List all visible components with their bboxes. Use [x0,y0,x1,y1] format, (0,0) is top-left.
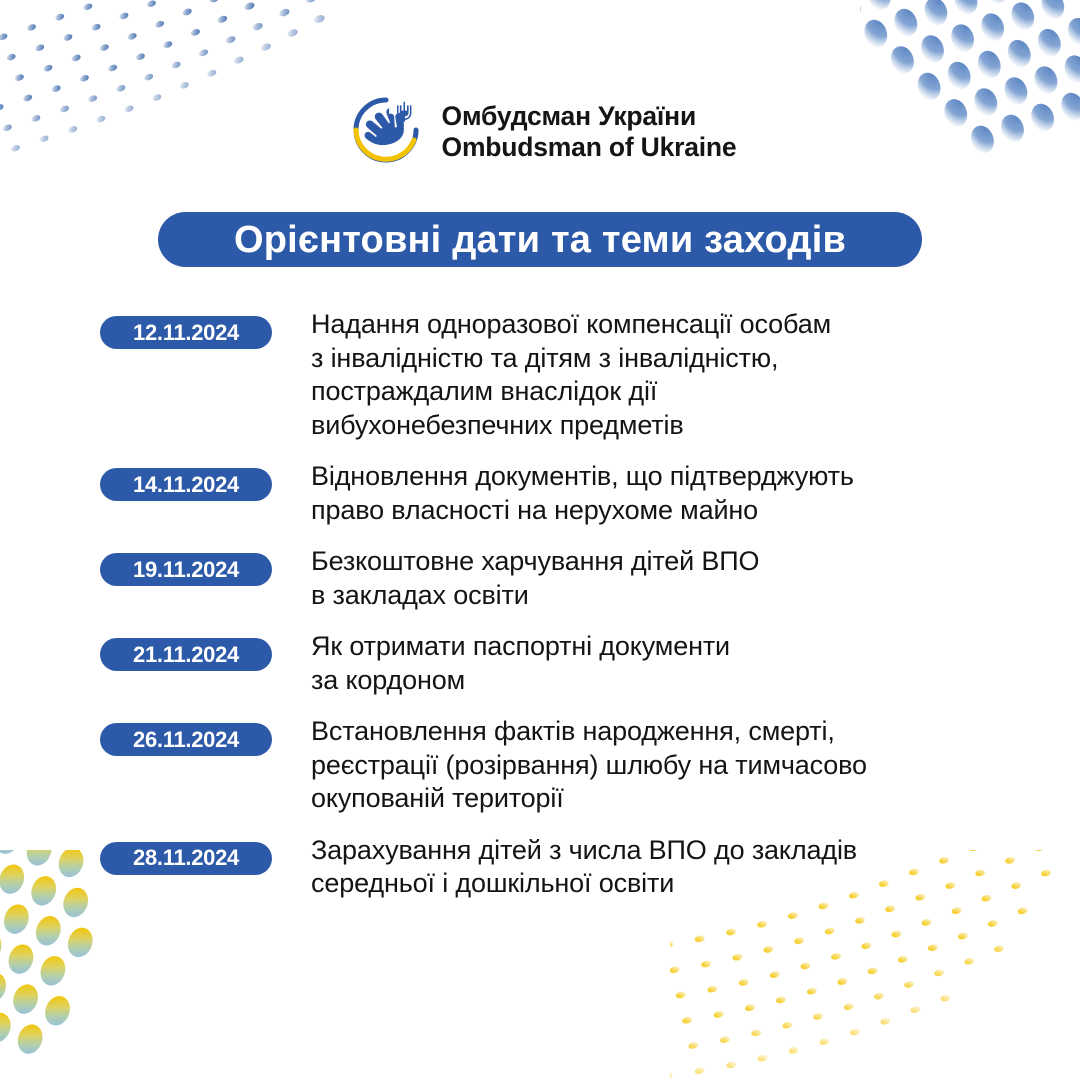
agenda-item: 28.11.2024 Зарахування дітей з числа ВПО… [100,834,1000,901]
agenda-topic: Встановлення фактів народження, смерті, … [311,715,1000,816]
ombudsman-hand-dove-trident-circle-icon [344,92,428,172]
poster-canvas: Омбудсман України Ombudsman of Ukraine О… [0,0,1080,1080]
agenda-item: 21.11.2024 Як отримати паспортні докумен… [100,630,1000,697]
date-label: 26.11.2024 [133,729,239,751]
date-label: 12.11.2024 [133,322,239,344]
agenda-list: 12.11.2024 Надання одноразової компенсац… [100,308,1000,901]
agenda-topic: Надання одноразової компенсації особам з… [311,308,1000,442]
date-badge: 19.11.2024 [100,553,272,586]
agenda-topic: Зарахування дітей з числа ВПО до закладі… [311,834,1000,901]
organization-logo: Омбудсман України Ombudsman of Ukraine [0,92,1080,172]
logo-line-en: Ombudsman of Ukraine [442,132,737,163]
logo-wordmark: Омбудсман України Ombudsman of Ukraine [442,101,737,162]
date-label: 14.11.2024 [133,474,239,496]
page-title-banner: Орієнтовні дати та теми заходів [158,212,922,267]
agenda-topic: Безкоштовне харчування дітей ВПО в закла… [311,545,1000,612]
date-badge: 26.11.2024 [100,723,272,756]
date-badge: 28.11.2024 [100,842,272,875]
agenda-topic: Як отримати паспортні документи за кордо… [311,630,1000,697]
date-badge: 12.11.2024 [100,316,272,349]
date-label: 21.11.2024 [133,644,239,666]
agenda-item: 19.11.2024 Безкоштовне харчування дітей … [100,545,1000,612]
date-badge: 14.11.2024 [100,468,272,501]
logo-line-uk: Омбудсман України [442,101,737,132]
agenda-item: 12.11.2024 Надання одноразової компенсац… [100,308,1000,442]
agenda-item: 14.11.2024 Відновлення документів, що пі… [100,460,1000,527]
agenda-item: 26.11.2024 Встановлення фактів народженн… [100,715,1000,816]
agenda-topic: Відновлення документів, що підтверджують… [311,460,1000,527]
date-label: 19.11.2024 [133,559,239,581]
date-label: 28.11.2024 [133,847,239,869]
date-badge: 21.11.2024 [100,638,272,671]
page-title: Орієнтовні дати та теми заходів [234,221,846,259]
